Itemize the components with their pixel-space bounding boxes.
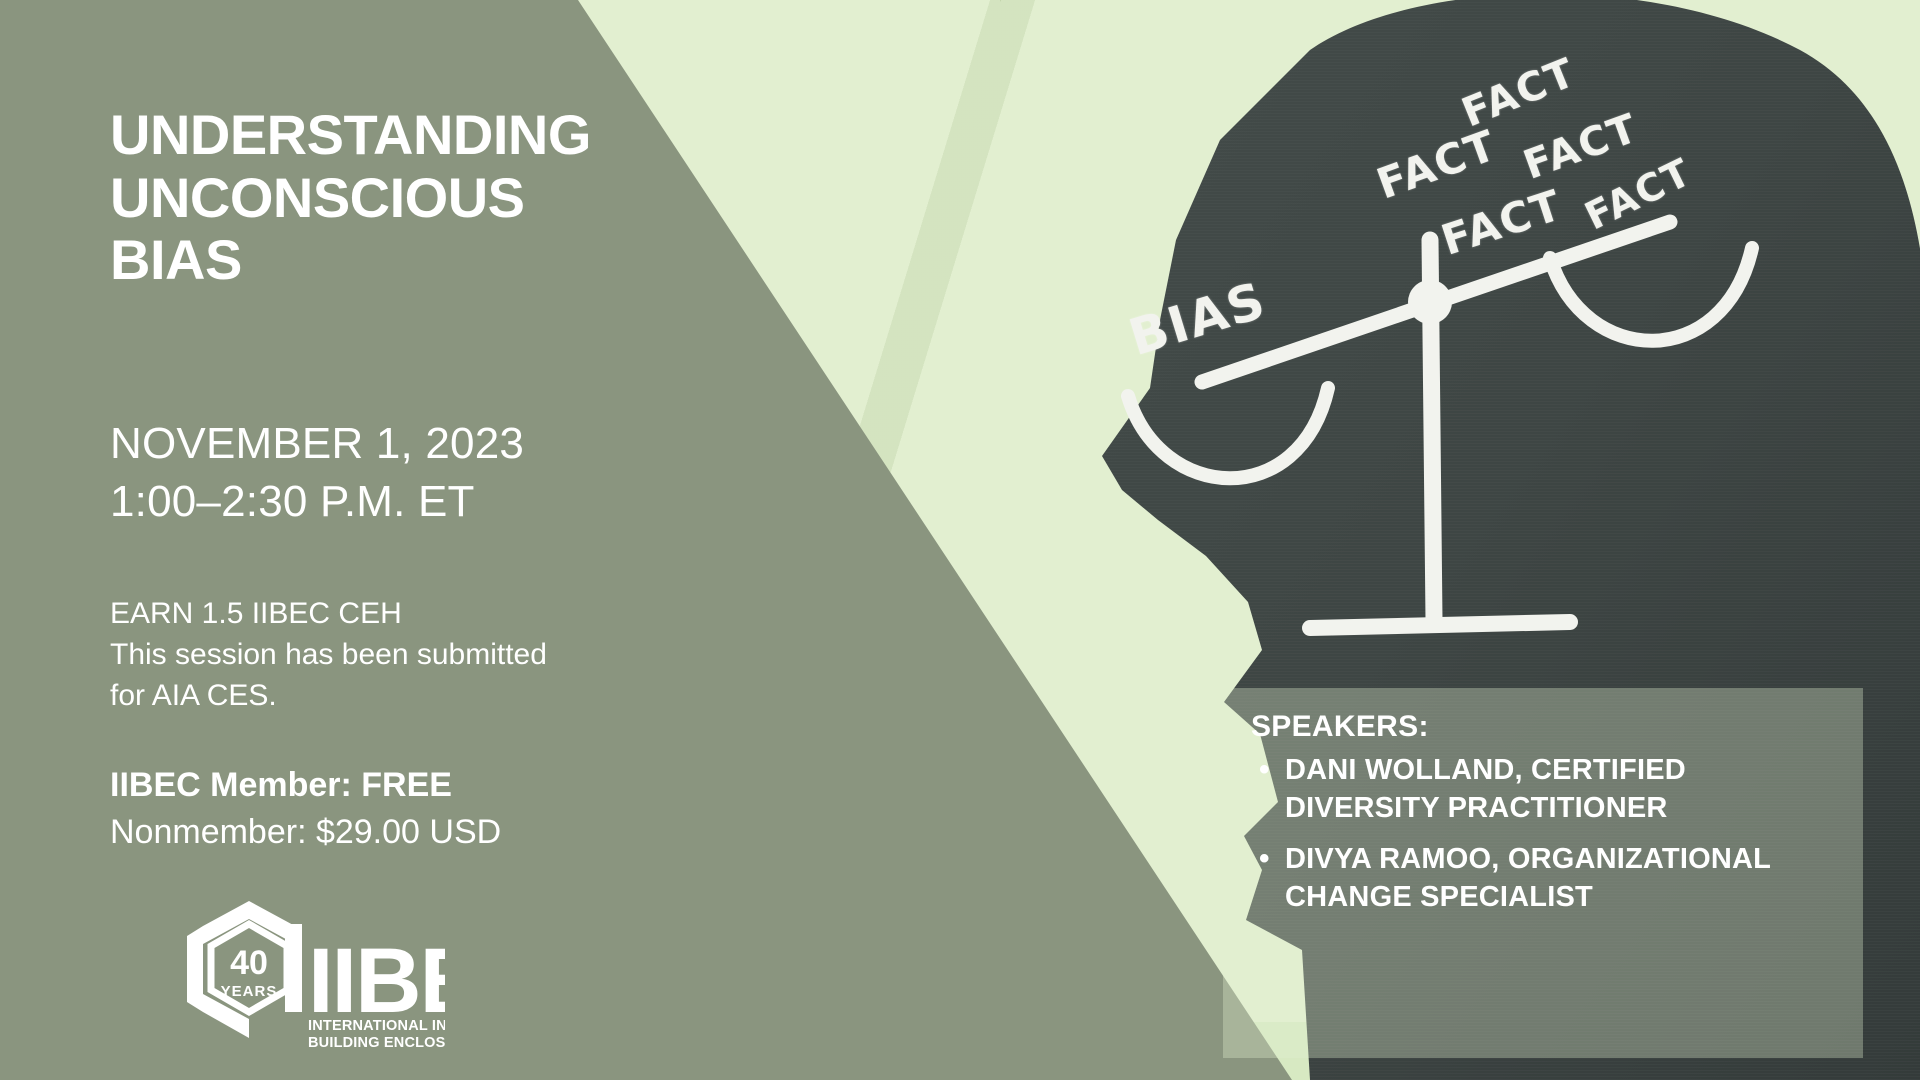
iibec-logo-icon: 40 YEARS IIBEC INTERNATIONAL INSTITUTE O… xyxy=(145,898,445,1048)
title-line-1: UNDERSTANDING xyxy=(110,104,591,167)
price-nonmember: Nonmember: $29.00 USD xyxy=(110,809,501,856)
speakers-heading: SPEAKERS: xyxy=(1251,710,1833,744)
title-line-3: BIAS xyxy=(110,229,591,292)
logo-wordmark-stem xyxy=(285,924,302,1012)
logo-badge-number: 40 xyxy=(230,944,268,982)
event-datetime: NOVEMBER 1, 2023 1:00–2:30 P.M. ET xyxy=(110,415,524,531)
event-time: 1:00–2:30 P.M. ET xyxy=(110,473,524,531)
poster-canvas: BIAS FACT FACT FACT FACT FACT UNDERSTAND… xyxy=(0,0,1920,1080)
credit-info: EARN 1.5 IIBEC CEH This session has been… xyxy=(110,594,547,716)
credit-line-2: This session has been submitted xyxy=(110,635,547,676)
event-date: NOVEMBER 1, 2023 xyxy=(110,415,524,473)
credit-line-3: for AIA CES. xyxy=(110,676,547,717)
logo-tagline-line-2: BUILDING ENCLOSURE CONSULTANTS xyxy=(308,1035,445,1048)
speakers-list: DANI WOLLAND, CERTIFIED DIVERSITY PRACTI… xyxy=(1251,752,1833,917)
speaker-item: DANI WOLLAND, CERTIFIED DIVERSITY PRACTI… xyxy=(1285,752,1833,827)
logo-badge-unit: YEARS xyxy=(221,983,278,1000)
price-member: IIBEC Member: FREE xyxy=(110,762,501,809)
speakers-panel: SPEAKERS: DANI WOLLAND, CERTIFIED DIVERS… xyxy=(1223,688,1863,1058)
speaker-item: DIVYA RAMOO, ORGANIZATIONAL CHANGE SPECI… xyxy=(1285,841,1833,916)
logo-tagline-line-1: INTERNATIONAL INSTITUTE OF xyxy=(308,1018,445,1034)
page-title: UNDERSTANDING UNCONSCIOUS BIAS xyxy=(110,104,591,292)
iibec-logo: 40 YEARS IIBEC INTERNATIONAL INSTITUTE O… xyxy=(145,898,445,1048)
logo-wordmark: IIBEC xyxy=(308,930,445,1032)
credit-line-1: EARN 1.5 IIBEC CEH xyxy=(110,594,547,635)
pricing-info: IIBEC Member: FREE Nonmember: $29.00 USD xyxy=(110,762,501,856)
title-line-2: UNCONSCIOUS xyxy=(110,167,591,230)
